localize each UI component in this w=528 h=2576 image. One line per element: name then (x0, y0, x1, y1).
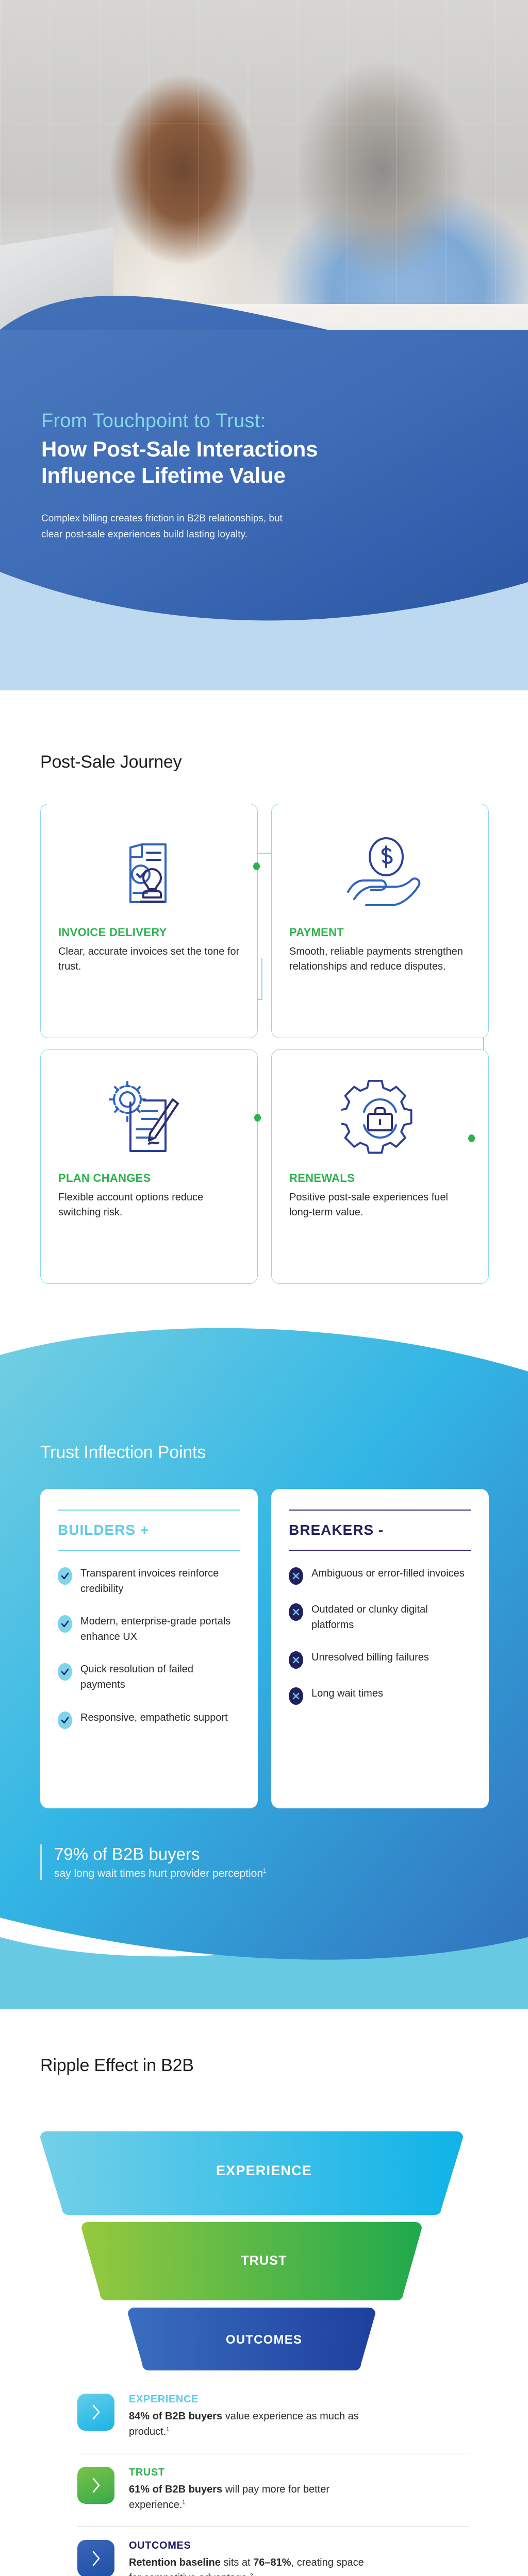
journey-card-payment[interactable]: PAYMENT Smooth, reliable payments streng… (271, 804, 489, 1038)
check-icon (58, 1615, 72, 1633)
journey-card-invoice-delivery[interactable]: INVOICE DELIVERY Clear, accurate invoice… (40, 804, 258, 1038)
breakers-card: BREAKERS - Ambiguous or error-filled inv… (271, 1489, 489, 1808)
connector-dot (254, 1114, 261, 1122)
journey-card-grid: INVOICE DELIVERY Clear, accurate invoice… (40, 804, 489, 1284)
infographic-page: From Touchpoint to Trust: How Post-Sale … (0, 0, 528, 2576)
ripple-detail-text-block: OUTCOMES Retention baseline sits at 76–8… (129, 2540, 371, 2576)
breaker-list-item: Long wait times (289, 1686, 471, 1705)
breakers-title: BREAKERS - (289, 1522, 471, 1538)
chevron-right-icon (77, 2394, 114, 2431)
trust-cards: BUILDERS + Transparent invoices reinforc… (40, 1489, 489, 1808)
ripple-detail-title: EXPERIENCE (129, 2394, 371, 2405)
ripple-detail-bold2: 76–81% (253, 2557, 291, 2568)
builders-top-rule (58, 1510, 240, 1511)
breaker-item-text: Long wait times (311, 1686, 383, 1702)
journey-card-text: Clear, accurate invoices set the tone fo… (58, 944, 240, 974)
hand-coin-icon (289, 824, 471, 922)
close-icon (289, 1567, 303, 1585)
breaker-item-text: Ambiguous or error-filled invoices (311, 1566, 465, 1582)
journey-card-label: RENEWALS (289, 1172, 471, 1185)
invoice-stamp-icon (58, 824, 240, 922)
journey-card-label: PAYMENT (289, 926, 471, 939)
builder-list-item: Modern, enterprise-grade portals enhance… (58, 1614, 240, 1645)
check-icon (58, 1711, 72, 1729)
ripple-detail-bold: 61% of B2B buyers (129, 2484, 222, 2495)
journey-row-1: INVOICE DELIVERY Clear, accurate invoice… (40, 804, 489, 1038)
builder-item-text: Quick resolution of failed payments (80, 1662, 240, 1692)
trust-stat-caption: say long wait times hurt provider percep… (54, 1867, 267, 1880)
breakers-top-rule (289, 1510, 471, 1511)
journey-row-2: PLAN CHANGES Flexible account options re… (40, 1049, 489, 1284)
funnel-label-outcomes: OUTCOMES (0, 2333, 528, 2347)
builder-item-text: Transparent invoices reinforce credibili… (80, 1566, 240, 1597)
ripple-detail-outcomes: OUTCOMES Retention baseline sits at 76–8… (77, 2526, 469, 2576)
ripple-detail-ref: 2 (250, 2572, 253, 2576)
close-icon (289, 1687, 303, 1705)
funnel-label-trust: TRUST (0, 2253, 528, 2268)
builder-list-item: Quick resolution of failed payments (58, 1662, 240, 1692)
ripple-heading: Ripple Effect in B2B (40, 2056, 194, 2076)
hero-subhead-line2: clear post-sale experiences build lastin… (41, 527, 454, 543)
funnel-label-experience: EXPERIENCE (0, 2163, 528, 2179)
breakers-bottom-rule (289, 1550, 471, 1551)
check-icon (58, 1663, 72, 1681)
trust-stat-value: 79% of B2B buyers (54, 1844, 267, 1864)
builder-list-item: Responsive, empathetic support (58, 1710, 240, 1729)
builder-item-text: Responsive, empathetic support (80, 1710, 228, 1726)
breaker-list-item: Outdated or clunky digital platforms (289, 1602, 471, 1633)
journey-card-plan-changes[interactable]: PLAN CHANGES Flexible account options re… (40, 1049, 258, 1284)
builders-bottom-rule (58, 1550, 240, 1551)
hero-kicker: From Touchpoint to Trust: (41, 410, 485, 433)
breaker-list-item: Ambiguous or error-filled invoices (289, 1566, 471, 1585)
gear-briefcase-icon (289, 1070, 471, 1167)
journey-card-label: PLAN CHANGES (58, 1172, 240, 1185)
ripple-detail-title: TRUST (129, 2467, 371, 2479)
hero-headline-line1: How Post-Sale Interactions (41, 436, 485, 462)
trust-stat-callout: 79% of B2B buyers say long wait times hu… (40, 1844, 267, 1880)
title-band: From Touchpoint to Trust: How Post-Sale … (0, 330, 528, 690)
connector-dot (468, 1134, 475, 1142)
close-icon (289, 1603, 303, 1621)
breaker-item-text: Unresolved billing failures (311, 1650, 429, 1666)
ripple-effect-section: Ripple Effect in B2B (0, 2009, 528, 2576)
ripple-detail-text-block: TRUST 61% of B2B buyers will pay more fo… (129, 2467, 371, 2513)
breaker-item-text: Outdated or clunky digital platforms (311, 1602, 471, 1633)
ripple-funnel: EXPERIENCE TRUST OUTCOMES (0, 2130, 528, 2372)
ripple-detail-bold: Retention baseline (129, 2557, 221, 2568)
trust-heading: Trust Inflection Points (40, 1443, 206, 1463)
ripple-detail-trust: TRUST 61% of B2B buyers will pay more fo… (77, 2453, 469, 2526)
journey-card-text: Positive post-sale experiences fuel long… (289, 1190, 471, 1220)
funnel-shapes: EXPERIENCE TRUST OUTCOMES (0, 2130, 528, 2372)
post-sale-journey-section: Post-Sale Journey (0, 701, 528, 1278)
check-icon (58, 1567, 72, 1585)
ripple-detail-bold: 84% of B2B buyers (129, 2411, 222, 2422)
trust-stat-caption-text: say long wait times hurt provider percep… (54, 1868, 263, 1879)
builders-title: BUILDERS + (58, 1522, 240, 1538)
journey-card-label: INVOICE DELIVERY (58, 926, 240, 939)
journey-card-renewals[interactable]: RENEWALS Positive post-sale experiences … (271, 1049, 489, 1284)
ripple-detail-desc: Retention baseline sits at 76–81%, creat… (129, 2555, 371, 2576)
ripple-detail-rest: sits at (221, 2557, 253, 2568)
chevron-right-icon (77, 2540, 114, 2576)
hero-headline-line2: Influence Lifetime Value (41, 462, 485, 488)
trust-inflection-section: Trust Inflection Points BUILDERS + Trans… (0, 1293, 528, 2009)
ripple-detail-title: OUTCOMES (129, 2540, 371, 2552)
connector-dot (253, 862, 260, 870)
hero-headline: How Post-Sale Interactions Influence Lif… (41, 436, 485, 488)
ripple-detail-desc: 61% of B2B buyers will pay more for bett… (129, 2482, 371, 2513)
builder-item-text: Modern, enterprise-grade portals enhance… (80, 1614, 240, 1645)
ripple-detail-desc: 84% of B2B buyers value experience as mu… (129, 2409, 371, 2439)
ripple-detail-ref: 1 (182, 2499, 185, 2505)
journey-card-text: Flexible account options reduce switchin… (58, 1190, 240, 1220)
trust-stat-ref: 1 (263, 1867, 267, 1874)
title-text-block: From Touchpoint to Trust: How Post-Sale … (41, 410, 485, 543)
close-icon (289, 1651, 303, 1669)
journey-card-text: Smooth, reliable payments strengthen rel… (289, 944, 471, 974)
builder-list-item: Transparent invoices reinforce credibili… (58, 1566, 240, 1597)
hero-subhead: Complex billing creates friction in B2B … (41, 511, 454, 543)
journey-heading: Post-Sale Journey (40, 752, 181, 772)
ripple-detail-text-block: EXPERIENCE 84% of B2B buyers value exper… (129, 2394, 371, 2439)
ripple-detail-experience: EXPERIENCE 84% of B2B buyers value exper… (77, 2380, 469, 2453)
breaker-list-item: Unresolved billing failures (289, 1650, 471, 1669)
gear-document-pen-icon (58, 1070, 240, 1167)
builders-card: BUILDERS + Transparent invoices reinforc… (40, 1489, 258, 1808)
ripple-detail-ref: 1 (166, 2426, 169, 2432)
chevron-right-icon (77, 2467, 114, 2504)
hero-subhead-line1: Complex billing creates friction in B2B … (41, 511, 454, 527)
ripple-detail-list: EXPERIENCE 84% of B2B buyers value exper… (77, 2380, 469, 2576)
